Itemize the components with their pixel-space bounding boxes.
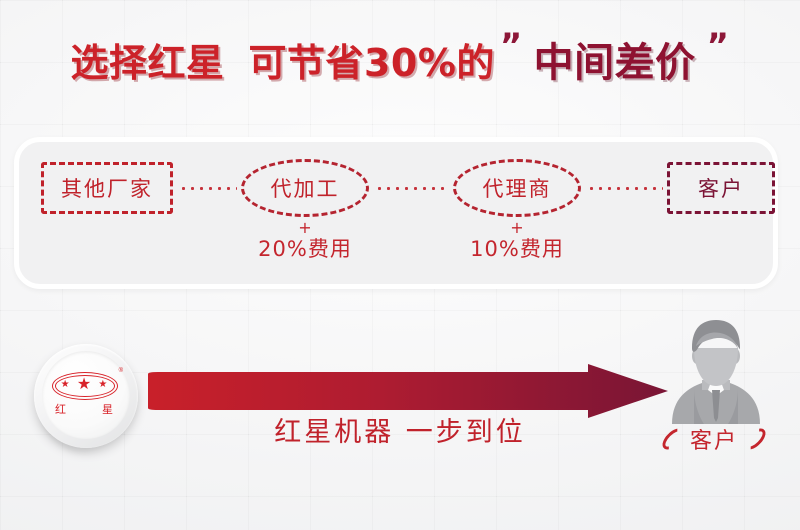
star-icon: ★ xyxy=(61,380,70,390)
fee-plus-sign: + xyxy=(432,220,602,236)
logo-inner-disc: ★ ★ ★ ® 红 星 xyxy=(42,351,130,439)
flow-node-label: 其他厂家 xyxy=(61,173,153,203)
hongxing-logo: ★ ★ ★ ® 红 星 xyxy=(34,344,138,448)
fee-oem: + 20%费用 xyxy=(220,220,390,262)
flow-node-other-factory: 其他厂家 xyxy=(41,162,173,214)
connector-1 xyxy=(179,187,237,190)
fee-plus-sign: + xyxy=(220,220,390,236)
bracket-left-icon xyxy=(659,425,687,453)
fee-agent: + 10%费用 xyxy=(432,220,602,262)
middleman-flow-card: 其他厂家 代加工 代理商 客户 + 20%费用 + 10%费用 xyxy=(14,137,778,289)
customer-badge-label: 客户 xyxy=(690,423,738,455)
bracket-right-icon xyxy=(741,425,769,453)
star-icon: ★ xyxy=(98,380,107,390)
logo-outer-ring: ★ ★ ★ ® 红 星 xyxy=(34,344,138,448)
customer-badge: 客户 xyxy=(644,422,784,456)
customer-avatar xyxy=(668,318,764,424)
logo-brand-char-left: 红 xyxy=(55,401,66,417)
headline-part1: 选择红星 xyxy=(71,41,225,85)
headline-emphasis: 中间差价 xyxy=(534,40,696,86)
connector-2 xyxy=(375,187,449,190)
flow-node-agent: 代理商 xyxy=(453,159,581,217)
flow-node-oem: 代加工 xyxy=(241,159,369,217)
headline: 选择红星 可节省30%的 ” 中间差价 ” xyxy=(0,30,800,88)
poster-canvas: 选择红星 可节省30%的 ” 中间差价 ” 其他厂家 代加工 代理商 客户 xyxy=(0,0,800,530)
businessman-icon xyxy=(668,318,764,424)
quote-open-mark: ” xyxy=(500,26,523,66)
fee-amount: 10%费用 xyxy=(432,236,602,262)
flow-node-label: 代加工 xyxy=(271,173,340,203)
headline-part2: 可节省30%的 xyxy=(248,41,494,85)
logo-mark: ★ ★ ★ ® 红 星 xyxy=(49,368,123,422)
logo-brand-char-right: 星 xyxy=(102,401,113,417)
registered-trademark-icon: ® xyxy=(119,368,123,374)
logo-stars: ★ ★ ★ xyxy=(57,376,111,394)
tagline: 红星机器 一步到位 xyxy=(190,410,610,449)
flow-node-customer: 客户 xyxy=(667,162,775,214)
connector-3 xyxy=(587,187,663,190)
logo-brand-name: 红 星 xyxy=(55,401,113,417)
flow-node-label: 客户 xyxy=(698,173,744,203)
star-icon: ★ xyxy=(77,377,91,393)
flow-diagram: 其他厂家 代加工 代理商 客户 + 20%费用 + 10%费用 xyxy=(19,142,773,284)
quote-close-mark: ” xyxy=(707,26,730,66)
fee-amount: 20%费用 xyxy=(220,236,390,262)
flow-node-label: 代理商 xyxy=(483,173,552,203)
